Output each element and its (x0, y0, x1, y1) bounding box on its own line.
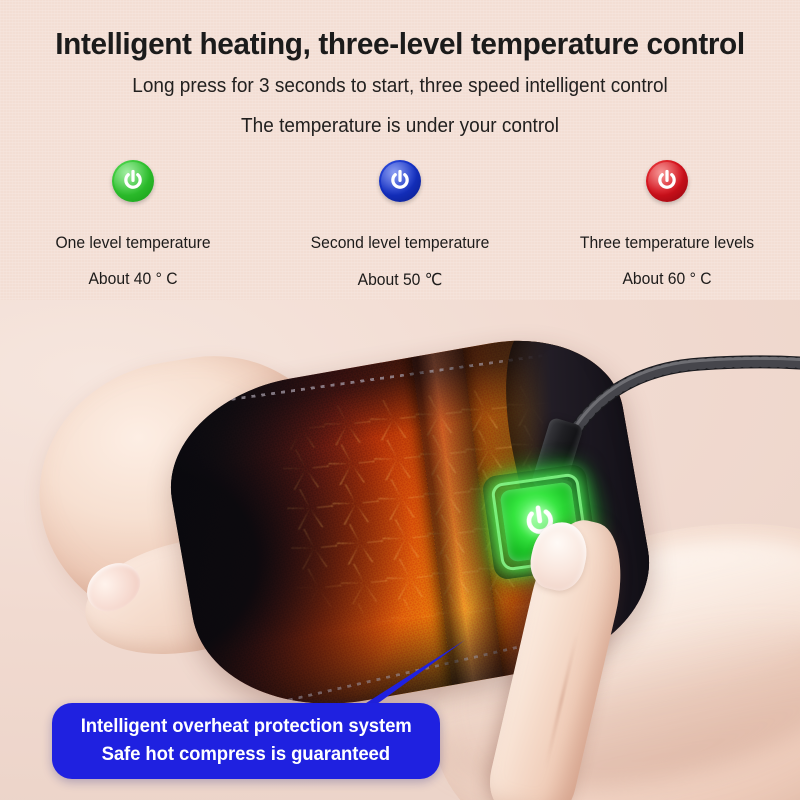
level-name: Three temperature levels (548, 234, 786, 253)
level-name: One level temperature (15, 234, 253, 253)
level-temperature: About 50 ℃ (281, 270, 519, 290)
power-icon-red (646, 160, 688, 202)
level-name: Second level temperature (281, 234, 519, 253)
overheat-protection-callout: Intelligent overheat protection system S… (52, 703, 440, 779)
callout-line-1: Intelligent overheat protection system (81, 713, 412, 741)
temperature-level-two: Second level temperature About 50 ℃ (275, 160, 525, 290)
level-temperature: About 60 ° C (548, 270, 786, 289)
power-icon-green (112, 160, 154, 202)
subtitle-line-1: Long press for 3 seconds to start, three… (20, 75, 780, 98)
level-temperature: About 40 ° C (15, 270, 253, 289)
temperature-level-three: Three temperature levels About 60 ° C (542, 160, 792, 289)
callout-line-2: Safe hot compress is guaranteed (102, 741, 390, 769)
page-title: Intelligent heating, three-level tempera… (16, 27, 784, 61)
temperature-levels-row: One level temperature About 40 ° C Secon… (0, 160, 800, 290)
temperature-level-one: One level temperature About 40 ° C (8, 160, 258, 289)
product-infographic: Intelligent heating, three-level tempera… (0, 0, 800, 800)
subtitle-line-2: The temperature is under your control (20, 115, 780, 138)
header-block: Intelligent heating, three-level tempera… (0, 0, 800, 138)
power-icon-blue (379, 160, 421, 202)
